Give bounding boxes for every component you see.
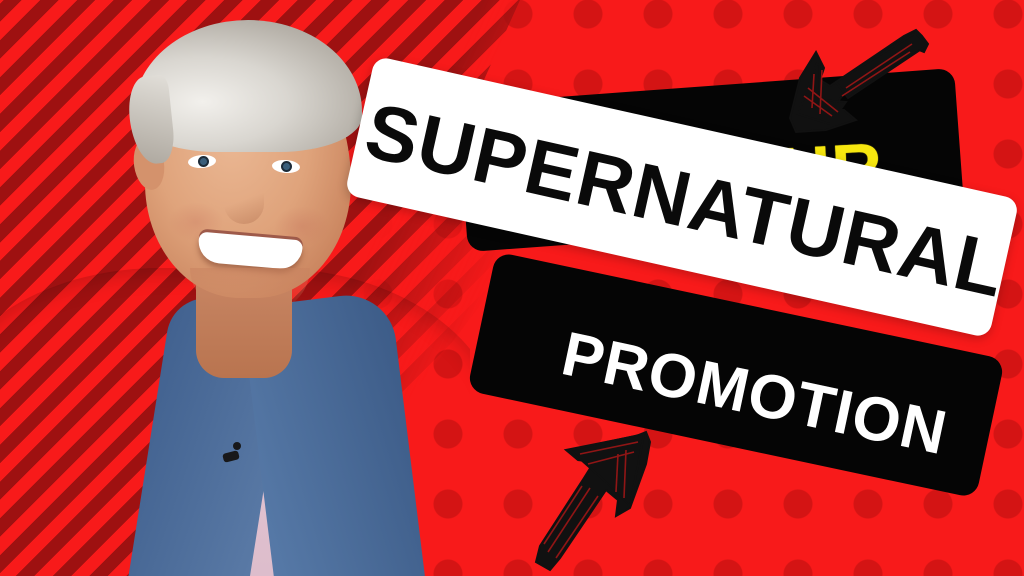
pupil-right bbox=[281, 161, 292, 172]
lapel-microphone-head-icon bbox=[233, 442, 241, 450]
thumbnail-canvas: YOUR PROMOTION SUPERNATURAL bbox=[0, 0, 1024, 576]
arrow-up-right-sketch-icon bbox=[534, 424, 686, 576]
pupil-left bbox=[198, 156, 209, 167]
nose bbox=[224, 168, 264, 224]
arrow-down-left-sketch-icon bbox=[786, 22, 936, 146]
